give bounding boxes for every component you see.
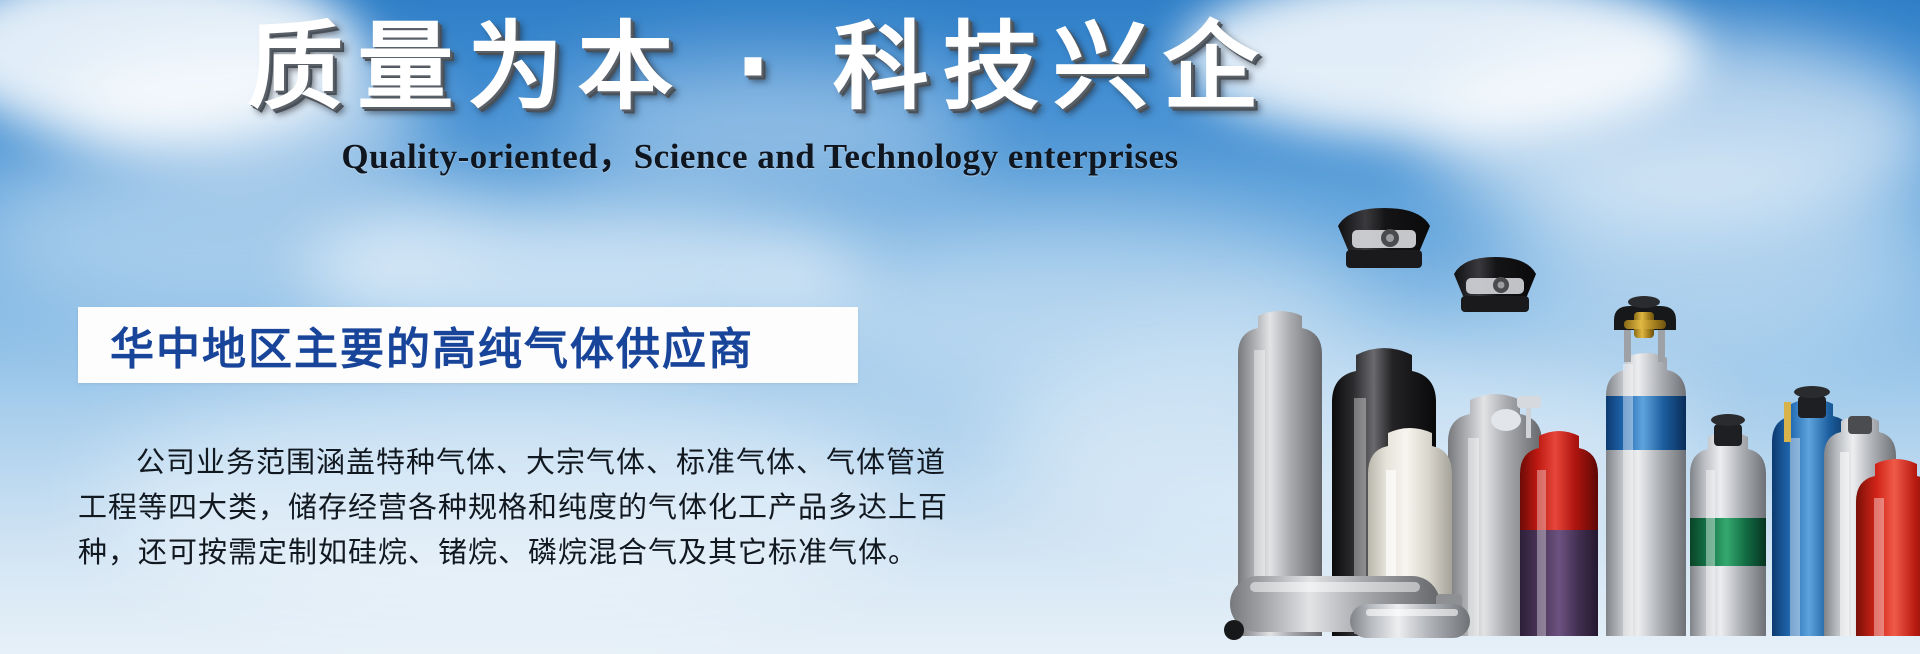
- hero-banner: 质量为本 · 科技兴企 Quality-oriented，Science and…: [0, 0, 1920, 654]
- cylinder-blue-banded: [1606, 296, 1686, 636]
- highlight-text: 华中地区主要的高纯气体供应商: [78, 313, 754, 377]
- cylinder-small-horizontal: [1350, 604, 1470, 638]
- description-paragraph: 公司业务范围涵盖特种气体、大宗气体、标准气体、气体管道 工程等四大类，储存经营各…: [78, 440, 868, 575]
- paragraph-line: 工程等四大类，储存经营各种规格和纯度的气体化工产品多达上百: [78, 485, 868, 530]
- paragraph-line: 公司业务范围涵盖特种气体、大宗气体、标准气体、气体管道: [78, 440, 868, 485]
- cylinder-green-band: [1690, 414, 1766, 636]
- gas-cylinder-group-image: [1220, 174, 1920, 654]
- cylinder-red-tall-right: [1856, 459, 1920, 636]
- page-title: 质量为本 · 科技兴企: [0, 14, 1520, 122]
- paragraph-line: 种，还可按需定制如硅烷、锗烷、磷烷混合气及其它标准气体。: [78, 530, 868, 575]
- page-subtitle: Quality-oriented，Science and Technology …: [0, 128, 1520, 179]
- headline-block: 质量为本 · 科技兴企 Quality-oriented，Science and…: [0, 14, 1520, 179]
- highlight-banner: 华中地区主要的高纯气体供应商: [78, 307, 858, 383]
